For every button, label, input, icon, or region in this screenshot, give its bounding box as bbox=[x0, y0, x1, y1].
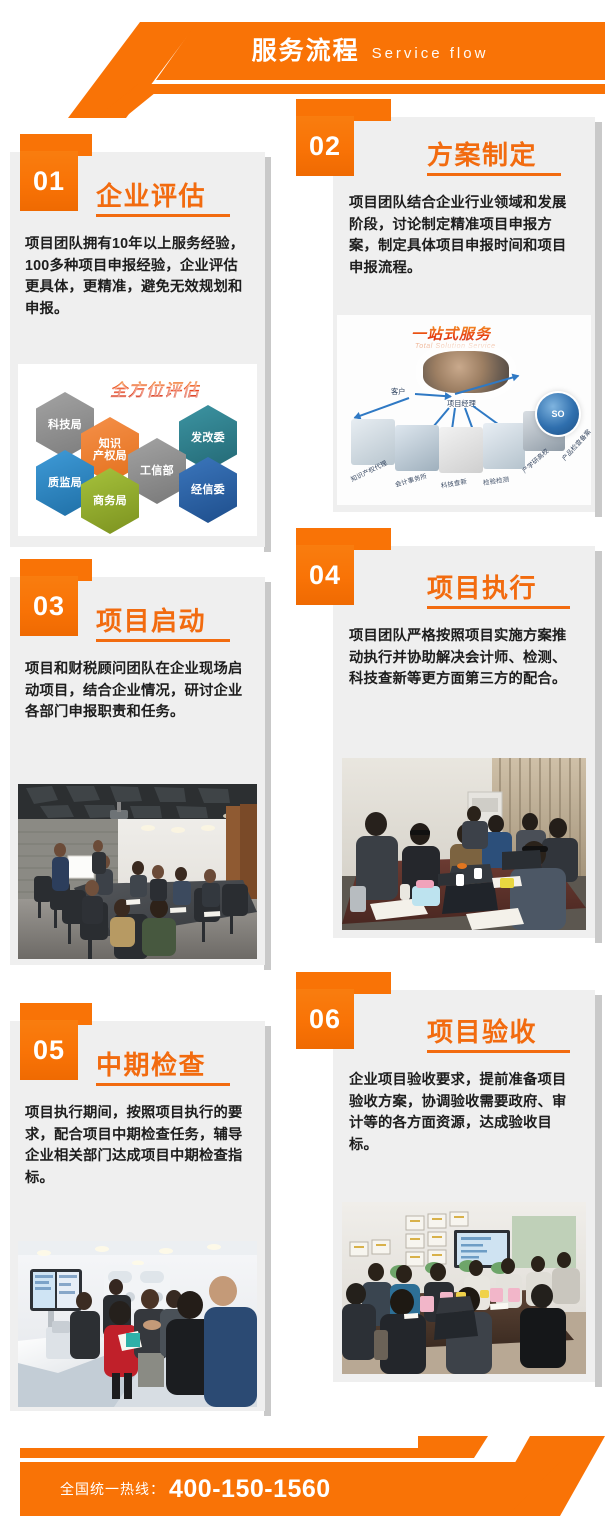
onestop-title: 一站式服务 bbox=[411, 323, 491, 344]
card-body: 项目和财税顾问团队在企业现场启动项目，结合企业情况，研讨企业各部门申报职责和任务… bbox=[25, 659, 247, 724]
footer-text-group: 全国统一热线： 400-150-1560 bbox=[20, 1462, 500, 1516]
photo-boardroom-review bbox=[342, 1202, 586, 1374]
page-title: 服务流程 bbox=[252, 39, 360, 64]
page-subtitle: Service flow bbox=[372, 42, 489, 61]
footer-stripe-wedge bbox=[418, 1436, 488, 1458]
card-number-badge: 04 bbox=[296, 545, 354, 605]
title-rule bbox=[96, 639, 230, 642]
card-02: 方案制定 项目团队结合企业行业领域和发展阶段，讨论制定精准项目申报方案，制定具体… bbox=[333, 117, 595, 512]
onestop-node-label: 科技查新 bbox=[440, 476, 468, 489]
onestop-diagram: 一站式服务 Total Solution Service 客户 项目经理 SO … bbox=[337, 315, 591, 505]
onestop-node-testing bbox=[483, 423, 525, 469]
card-04: 项目执行 项目团队严格按照项目实施方案推动执行并协助解决会计师、检测、科技查新等… bbox=[333, 546, 595, 938]
onestop-hub-photo bbox=[423, 351, 509, 393]
onestop-node-accounting bbox=[395, 425, 439, 471]
title-rule bbox=[427, 173, 561, 176]
title-rule bbox=[427, 1050, 570, 1053]
hex-diagram: 全方位评估 科技局 知识 产权局 发改委 质监局 工信部 商务局 经信委 bbox=[18, 364, 257, 536]
onestop-seal-icon: SO bbox=[537, 393, 579, 435]
card-05: 中期检查 项目执行期间，按照项目执行的要求，配合项目中期检查任务，辅导企业相关部… bbox=[10, 1021, 265, 1411]
card-number-badge: 01 bbox=[20, 151, 78, 211]
onestop-arrow bbox=[354, 397, 409, 419]
card-title: 中期检查 bbox=[96, 1045, 206, 1082]
onestop-node-ip bbox=[351, 419, 395, 465]
card-06: 项目验收 企业项目验收要求，提前准备项目验收方案，协调验收需要政府、审计等的各方… bbox=[333, 990, 595, 1382]
photo-conference-room bbox=[18, 784, 257, 959]
card-shadow bbox=[595, 122, 602, 517]
card-body: 项目团队严格按照项目实施方案推动执行并协助解决会计师、检测、科技查新等更方面第三… bbox=[349, 626, 577, 691]
title-rule bbox=[96, 1083, 230, 1086]
card-number-badge: 06 bbox=[296, 989, 354, 1049]
card-title: 项目验收 bbox=[427, 1012, 537, 1049]
photo-working-meeting bbox=[342, 758, 586, 930]
card-title: 项目启动 bbox=[96, 601, 206, 638]
hex-diagram-title: 全方位评估 bbox=[110, 376, 200, 401]
card-01: 企业评估 项目团队拥有10年以上服务经验，100多种项目申报经验，企业评估更具体… bbox=[10, 152, 265, 547]
card-title: 项目执行 bbox=[427, 568, 537, 605]
hex-node-jingxinwei: 经信委 bbox=[179, 457, 237, 523]
card-number-badge: 05 bbox=[20, 1020, 78, 1080]
onestop-node-search bbox=[439, 427, 483, 473]
card-body: 项目团队拥有10年以上服务经验，100多种项目申报经验，企业评估更具体，更精准，… bbox=[25, 234, 247, 321]
card-number-badge: 02 bbox=[296, 116, 354, 176]
header-underline-stripe bbox=[128, 84, 605, 94]
onestop-node-label: 会计事务所 bbox=[394, 471, 428, 489]
card-shadow bbox=[264, 582, 271, 970]
card-shadow bbox=[595, 995, 602, 1387]
hotline-label: 全国统一热线： bbox=[60, 1479, 165, 1499]
card-body: 项目团队结合企业行业领域和发展阶段，讨论制定精准项目申报方案，制定具体项目申报时… bbox=[349, 193, 577, 280]
photo-showroom-visit bbox=[18, 1241, 257, 1407]
page-footer: 全国统一热线： 400-150-1560 bbox=[0, 1420, 605, 1538]
card-shadow bbox=[595, 551, 602, 943]
card-body: 企业项目验收要求，提前准备项目验收方案，协调验收需要政府、审计等的各方面资源，达… bbox=[349, 1070, 577, 1157]
header-text-group: 服务流程 Service flow bbox=[150, 22, 590, 80]
card-shadow bbox=[264, 1026, 271, 1416]
onestop-node-label: 检验检测 bbox=[482, 474, 509, 487]
card-body: 项目执行期间，按照项目执行的要求，配合项目中期检查任务，辅导企业相关部门达成项目… bbox=[25, 1103, 247, 1190]
card-shadow bbox=[264, 157, 271, 552]
title-rule bbox=[96, 214, 230, 217]
onestop-label-customer: 客户 bbox=[391, 387, 405, 397]
card-number-badge: 03 bbox=[20, 576, 78, 636]
service-flow-infographic: 服务流程 Service flow 企业评估 项目团队拥有10年以上服务经验，1… bbox=[0, 0, 605, 1538]
onestop-subtitle: Total Solution Service bbox=[415, 343, 496, 350]
hotline-number: 400-150-1560 bbox=[169, 1475, 331, 1504]
onestop-arrow bbox=[415, 393, 451, 398]
card-title: 企业评估 bbox=[96, 176, 206, 213]
footer-stripe bbox=[20, 1448, 440, 1458]
title-rule bbox=[427, 606, 570, 609]
card-title: 方案制定 bbox=[427, 135, 537, 172]
card-03: 项目启动 项目和财税顾问团队在企业现场启动项目，结合企业情况，研讨企业各部门申报… bbox=[10, 577, 265, 965]
